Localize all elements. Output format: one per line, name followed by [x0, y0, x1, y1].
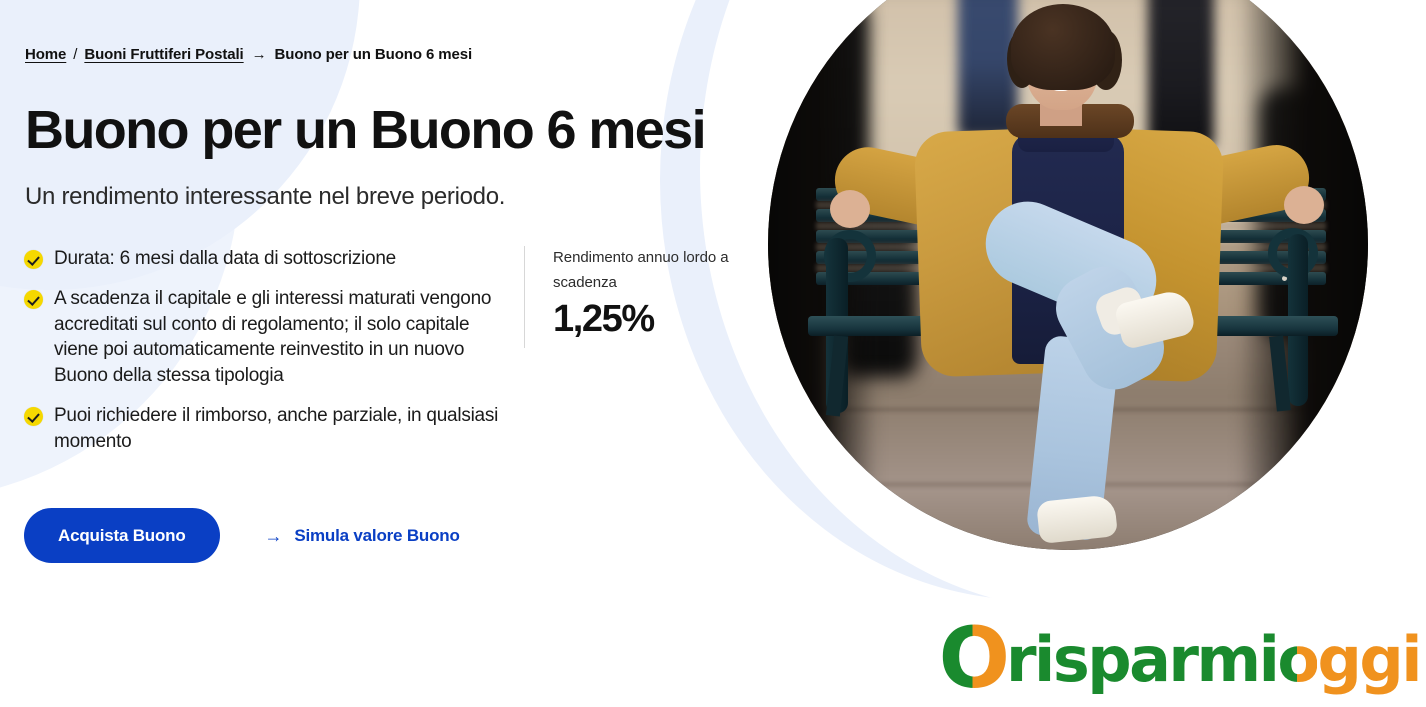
yield-value: 1,25%	[553, 298, 754, 341]
feature-text: Durata: 6 mesi dalla data di sottoscrizi…	[54, 246, 396, 272]
breadcrumb-link-home[interactable]: Home	[25, 46, 66, 63]
list-item: A scadenza il capitale e gli interessi m…	[24, 286, 502, 389]
blurred-passerby	[1148, 0, 1214, 148]
logo-text-oggi: ggi	[1317, 629, 1420, 691]
check-circle-icon	[24, 290, 43, 309]
breadcrumb-current: Buono per un Buono 6 mesi	[275, 46, 473, 63]
feature-text: A scadenza il capitale e gli interessi m…	[54, 286, 502, 389]
yield-highlight: Rendimento annuo lordo a scadenza 1,25%	[524, 246, 754, 348]
simulate-link[interactable]: → Simula valore Buono	[265, 526, 460, 546]
simulate-link-label: Simula valore Buono	[294, 526, 459, 546]
hero-image	[768, 0, 1368, 550]
yield-label: Rendimento annuo lordo a scadenza	[553, 246, 745, 296]
buy-button[interactable]: Acquista Buono	[24, 508, 220, 563]
person-hair	[1011, 4, 1115, 90]
site-logo: Orisparmioggi	[939, 610, 1420, 694]
cta-row: Acquista Buono → Simula valore Buono	[24, 508, 460, 563]
person-shoe	[1036, 494, 1118, 544]
breadcrumb: Home / Buoni Fruttiferi Postali → Buono …	[25, 46, 472, 63]
logo-text-risparmi: risparmi	[1006, 629, 1277, 691]
feature-list: Durata: 6 mesi dalla data di sottoscrizi…	[24, 246, 502, 469]
breadcrumb-separator: /	[73, 46, 77, 63]
feature-text: Puoi richiedere il rimborso, anche parzi…	[54, 403, 502, 455]
breadcrumb-link-category[interactable]: Buoni Fruttiferi Postali	[84, 46, 243, 63]
page-subtitle: Un rendimento interessante nel breve per…	[25, 183, 505, 211]
arrow-right-icon: →	[265, 527, 283, 545]
arrow-right-icon: →	[251, 47, 268, 62]
logo-letter-o: o	[1277, 629, 1317, 691]
check-circle-icon	[24, 407, 43, 426]
page-title: Buono per un Buono 6 mesi	[25, 102, 705, 159]
list-item: Durata: 6 mesi dalla data di sottoscrizi…	[24, 246, 502, 272]
list-item: Puoi richiedere il rimborso, anche parzi…	[24, 403, 502, 455]
check-circle-icon	[24, 250, 43, 269]
logo-initial-o: O	[939, 616, 1006, 700]
